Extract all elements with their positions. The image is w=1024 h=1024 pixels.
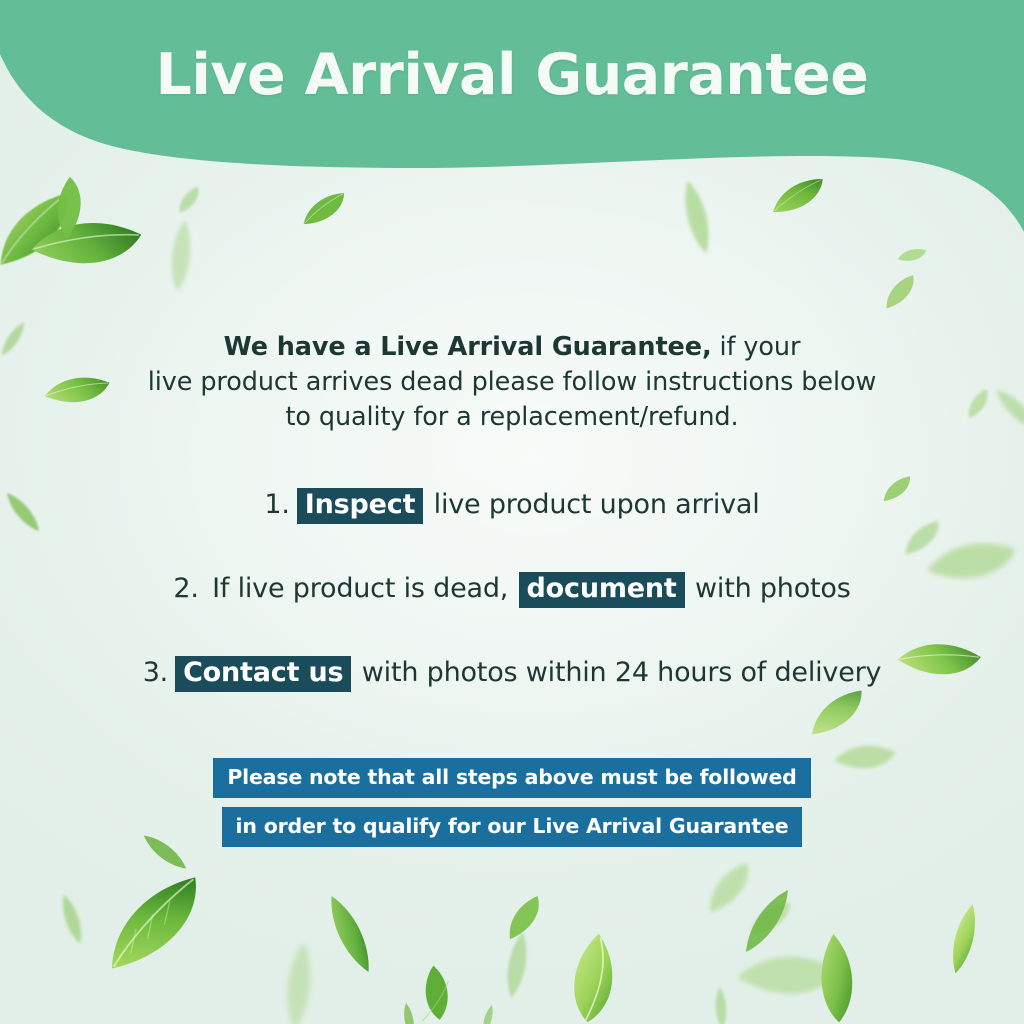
step-text-after: with photos [687, 573, 851, 604]
falling-leaf-icon [393, 1000, 425, 1024]
live-arrival-guarantee-poster: Live Arrival Guarantee We have a Live Ar… [0, 0, 1024, 1024]
step-highlight-document[interactable]: document [519, 572, 685, 608]
falling-leaf-icon [84, 863, 223, 984]
intro-line-1: We have a Live Arrival Guarantee, if you… [0, 330, 1024, 365]
step-text-after: live product upon arrival [425, 489, 759, 520]
notice-bar-2: in order to qualify for our Live Arrival… [222, 807, 803, 847]
page-title: Live Arrival Guarantee [0, 42, 1024, 108]
step-item-1: 1.Inspect live product upon arrival [0, 487, 1024, 524]
falling-leaf-icon [273, 938, 324, 1024]
intro-line-3: to quality for a replacement/refund. [0, 400, 1024, 435]
falling-leaf-icon [493, 888, 555, 947]
falling-leaf-icon [730, 925, 845, 1024]
intro-paragraph: We have a Live Arrival Guarantee, if you… [0, 330, 1024, 435]
falling-leaf-icon [745, 896, 797, 941]
falling-leaf-icon [555, 928, 634, 1024]
step-text-after: with photos within 24 hours of delivery [353, 657, 881, 688]
step-item-3: 3.Contact us with photos within 24 hours… [0, 655, 1024, 692]
step-number: 1. [264, 489, 289, 520]
step-highlight-contact-us[interactable]: Contact us [175, 656, 351, 692]
falling-leaf-icon [807, 928, 869, 1024]
intro-line-2: live product arrives dead please follow … [0, 365, 1024, 400]
intro-bold-phrase: We have a Live Arrival Guarantee, [224, 332, 712, 362]
falling-leaf-icon [474, 1002, 501, 1024]
falling-leaf-icon [494, 928, 540, 1003]
falling-leaf-icon [706, 985, 735, 1024]
notice-bar-1: Please note that all steps above must be… [213, 758, 810, 798]
falling-leaf-icon [936, 898, 993, 979]
step-item-2: 2. If live product is dead, document wit… [0, 571, 1024, 608]
falling-leaf-icon [48, 888, 95, 949]
falling-leaf-icon [311, 885, 389, 983]
steps-list: 1.Inspect live product upon arrival 2. I… [0, 487, 1024, 739]
step-text-before: If live product is dead, [204, 573, 517, 604]
step-number: 2. [173, 573, 198, 604]
intro-line-1-rest: if your [712, 332, 801, 362]
step-highlight-inspect[interactable]: Inspect [297, 488, 424, 524]
falling-leaf-icon [404, 956, 470, 1024]
falling-leaf-icon [726, 876, 808, 966]
notice-bars: Please note that all steps above must be… [0, 758, 1024, 847]
falling-leaf-icon [693, 855, 765, 921]
step-number: 3. [143, 657, 168, 688]
